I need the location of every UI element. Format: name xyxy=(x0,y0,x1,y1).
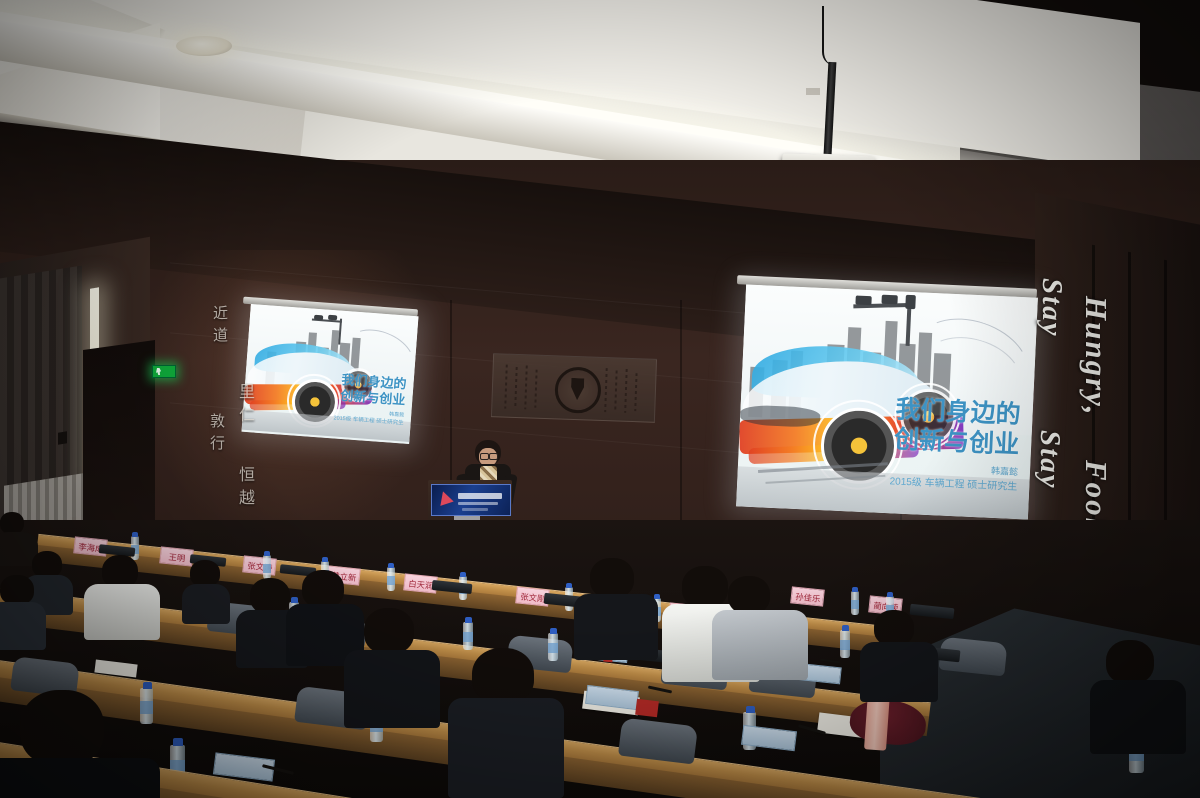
person-torso xyxy=(712,610,808,680)
wall-seam-vertical xyxy=(680,300,682,530)
person-head xyxy=(364,608,414,654)
recessed-downlight xyxy=(176,36,232,56)
person-torso xyxy=(1090,680,1186,754)
bottle-cap xyxy=(322,557,328,562)
wall-plaque xyxy=(491,353,657,423)
slide-title-line2: 创新与创业 xyxy=(340,389,406,408)
name-card: 张文涛 xyxy=(242,555,277,575)
bottle-cap xyxy=(264,551,270,556)
traffic-light-icon xyxy=(881,295,897,305)
wall-text-cn-3: 敦行 xyxy=(207,413,228,457)
plaque-text-column xyxy=(504,365,508,409)
slide-content-left: 我们身边的 创新与创业 韩嘉懿 2015级 车辆工程 硕士研究生 xyxy=(242,304,419,444)
projection-screen-left: 我们身边的 创新与创业 韩嘉懿 2015级 车辆工程 硕士研究生 xyxy=(242,304,419,444)
wall-text-hungry: Hungry, xyxy=(1078,296,1114,417)
bottle-cap xyxy=(852,587,858,592)
bottle-label xyxy=(840,640,850,650)
bottle-cap xyxy=(550,628,557,634)
person-head xyxy=(190,560,220,587)
name-card-text: 王明 xyxy=(168,549,186,563)
name-card-text: 张文刚 xyxy=(519,589,545,604)
projector-bracket xyxy=(806,88,820,95)
lecture-hall-photo: 我们身边的 创新与创业 韩嘉懿 2015级 车辆工程 硕士研究生 xyxy=(0,0,1200,798)
bottle-cap xyxy=(566,583,572,588)
person-head xyxy=(874,610,914,646)
projection-screen-main: 我们身边的 创新与创业 韩嘉懿 2015级 车辆工程 硕士研究生 xyxy=(736,284,1038,519)
person-torso xyxy=(182,584,230,624)
person-head xyxy=(0,575,34,605)
slide-title-line1: 我们身边的 xyxy=(895,395,1021,429)
bottle-cap xyxy=(887,592,893,597)
banner-title-text xyxy=(458,493,502,499)
slide-content-main: 我们身边的 创新与创业 韩嘉懿 2015级 车辆工程 硕士研究生 xyxy=(736,284,1038,519)
wall-text-cn-1: 近道 xyxy=(210,305,231,349)
plaque-text-column xyxy=(614,370,617,412)
bottle-label xyxy=(851,600,859,609)
side-door xyxy=(83,340,155,550)
traffic-light-icon xyxy=(328,315,337,321)
bottle-label xyxy=(463,632,473,642)
traffic-light-icon xyxy=(314,315,323,321)
person-torso xyxy=(344,650,440,728)
banner-sub-text xyxy=(458,502,498,505)
person-torso xyxy=(448,698,564,798)
name-card-text: 白天润 xyxy=(407,576,433,591)
wall-text-stay-1: Stay xyxy=(1035,278,1068,338)
person-head xyxy=(472,648,534,704)
bottle-label xyxy=(263,564,271,573)
plaque-text-column xyxy=(514,367,517,409)
glasses-icon xyxy=(489,453,498,460)
podium-banner xyxy=(431,484,511,516)
running-man-icon xyxy=(156,368,161,375)
name-card: 孙佳乐 xyxy=(790,586,825,606)
person-head xyxy=(0,512,24,534)
wall-text-cn-4: 恒越 xyxy=(233,466,257,512)
person-head xyxy=(682,566,728,608)
slide-presenter-name: 韩嘉懿 xyxy=(991,466,1019,479)
banner-star-icon xyxy=(436,489,453,506)
person-torso xyxy=(860,642,938,702)
wall-switch xyxy=(58,431,67,444)
bottle-cap xyxy=(173,738,183,746)
bottle-label xyxy=(387,576,395,585)
plaque-text-column xyxy=(634,373,637,411)
wall-text-cn-2: 里仁 xyxy=(233,383,257,429)
bottle-cap xyxy=(132,532,138,537)
glasses-icon xyxy=(480,453,489,460)
red-booklet xyxy=(635,699,659,718)
bottle-cap xyxy=(143,682,152,689)
name-card: 王明 xyxy=(159,546,194,566)
person-head xyxy=(302,570,344,608)
person-torso xyxy=(0,602,46,650)
bottle-label xyxy=(548,643,558,653)
slide-title-line2: 创新与创业 xyxy=(894,425,1020,459)
bottle-cap xyxy=(465,617,472,623)
person-head xyxy=(728,576,770,614)
name-card-text: 孙佳乐 xyxy=(794,589,820,604)
person-torso xyxy=(0,758,160,798)
emblem-shield xyxy=(571,378,585,400)
person-head xyxy=(20,690,104,766)
bottle-cap xyxy=(388,563,394,568)
bottle-cap xyxy=(842,625,849,631)
traffic-light-icon xyxy=(855,295,871,305)
plaque-text-column xyxy=(524,365,528,409)
person-head xyxy=(32,551,62,578)
bottle-label xyxy=(140,701,153,714)
university-emblem-icon xyxy=(554,366,602,414)
plaque-text-column xyxy=(624,369,628,413)
banner-sub-text xyxy=(462,508,488,511)
projector-cable xyxy=(822,6,848,66)
person-torso xyxy=(84,584,160,640)
wall-text-stay-2: Stay xyxy=(1033,430,1066,490)
traffic-light-icon xyxy=(905,295,916,309)
person-head xyxy=(590,558,634,598)
plaque-text-column xyxy=(604,368,608,412)
bottle-cap xyxy=(746,706,755,713)
person-torso xyxy=(574,594,658,660)
exit-sign-icon xyxy=(152,365,176,378)
bottle-cap xyxy=(460,572,466,577)
person-head xyxy=(250,578,290,614)
bottle-cap xyxy=(291,597,298,603)
slide-presenter-name: 韩嘉懿 xyxy=(389,411,404,419)
plaque-text-column xyxy=(534,370,537,408)
person-head xyxy=(1106,640,1154,684)
